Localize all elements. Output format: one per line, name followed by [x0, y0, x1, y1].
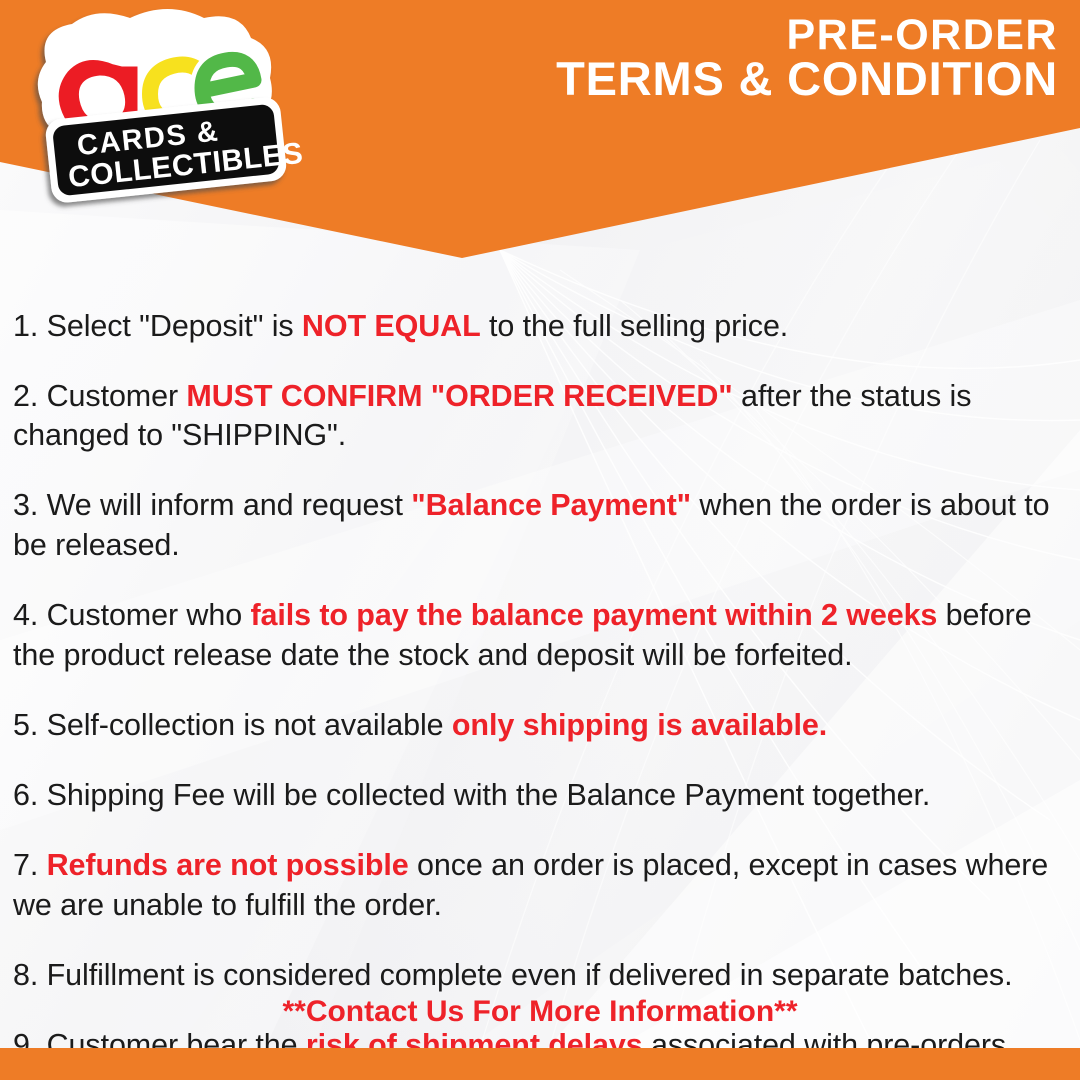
term-text: Shipping Fee will be collected with the …: [47, 778, 931, 812]
term-emphasis: "Balance Payment": [411, 488, 691, 522]
term-item: 4. Customer who fails to pay the balance…: [13, 596, 1068, 675]
term-number: 5.: [13, 708, 47, 742]
page-title-line1: PRE-ORDER: [556, 14, 1058, 56]
term-number: 8.: [13, 958, 47, 992]
page-title-line2: TERMS & CONDITION: [556, 56, 1058, 102]
term-text: to the full selling price.: [481, 309, 789, 343]
term-item: 7. Refunds are not possible once an orde…: [13, 846, 1068, 925]
term-item: 3. We will inform and request "Balance P…: [13, 486, 1068, 565]
term-number: 2.: [13, 379, 47, 413]
terms-list: 1. Select "Deposit" is NOT EQUAL to the …: [13, 276, 1068, 1080]
term-item: 2. Customer MUST CONFIRM "ORDER RECEIVED…: [13, 377, 1068, 456]
term-emphasis: NOT EQUAL: [302, 309, 481, 343]
term-text: Customer: [47, 379, 187, 413]
page-title: PRE-ORDER TERMS & CONDITION: [556, 14, 1058, 102]
term-item: 8. Fulfillment is considered complete ev…: [13, 956, 1068, 996]
term-text: Fulfillment is considered complete even …: [47, 958, 1013, 992]
brand-logo[interactable]: CARDS & COLLECTIBLES: [18, 4, 318, 214]
term-number: 3.: [13, 488, 47, 522]
contact-note: **Contact Us For More Information**: [0, 995, 1080, 1029]
term-text: Self-collection is not available: [47, 708, 452, 742]
term-item: 5. Self-collection is not available only…: [13, 706, 1068, 746]
footer-bar: [0, 1048, 1080, 1080]
term-number: 1.: [13, 309, 47, 343]
term-emphasis: Refunds are not possible: [47, 848, 409, 882]
poster-canvas: PRE-ORDER TERMS & CONDITION: [0, 0, 1080, 1080]
term-text: We will inform and request: [47, 488, 412, 522]
term-text: Customer who: [47, 598, 251, 632]
term-number: 4.: [13, 598, 47, 632]
term-emphasis: MUST CONFIRM "ORDER RECEIVED": [186, 379, 732, 413]
term-emphasis: only shipping is available.: [452, 708, 827, 742]
term-emphasis: fails to pay the balance payment within …: [250, 598, 937, 632]
term-number: 6.: [13, 778, 47, 812]
term-item: 1. Select "Deposit" is NOT EQUAL to the …: [13, 307, 1068, 347]
term-item: 6. Shipping Fee will be collected with t…: [13, 776, 1068, 816]
term-text: Select "Deposit" is: [47, 309, 302, 343]
term-number: 7.: [13, 848, 47, 882]
